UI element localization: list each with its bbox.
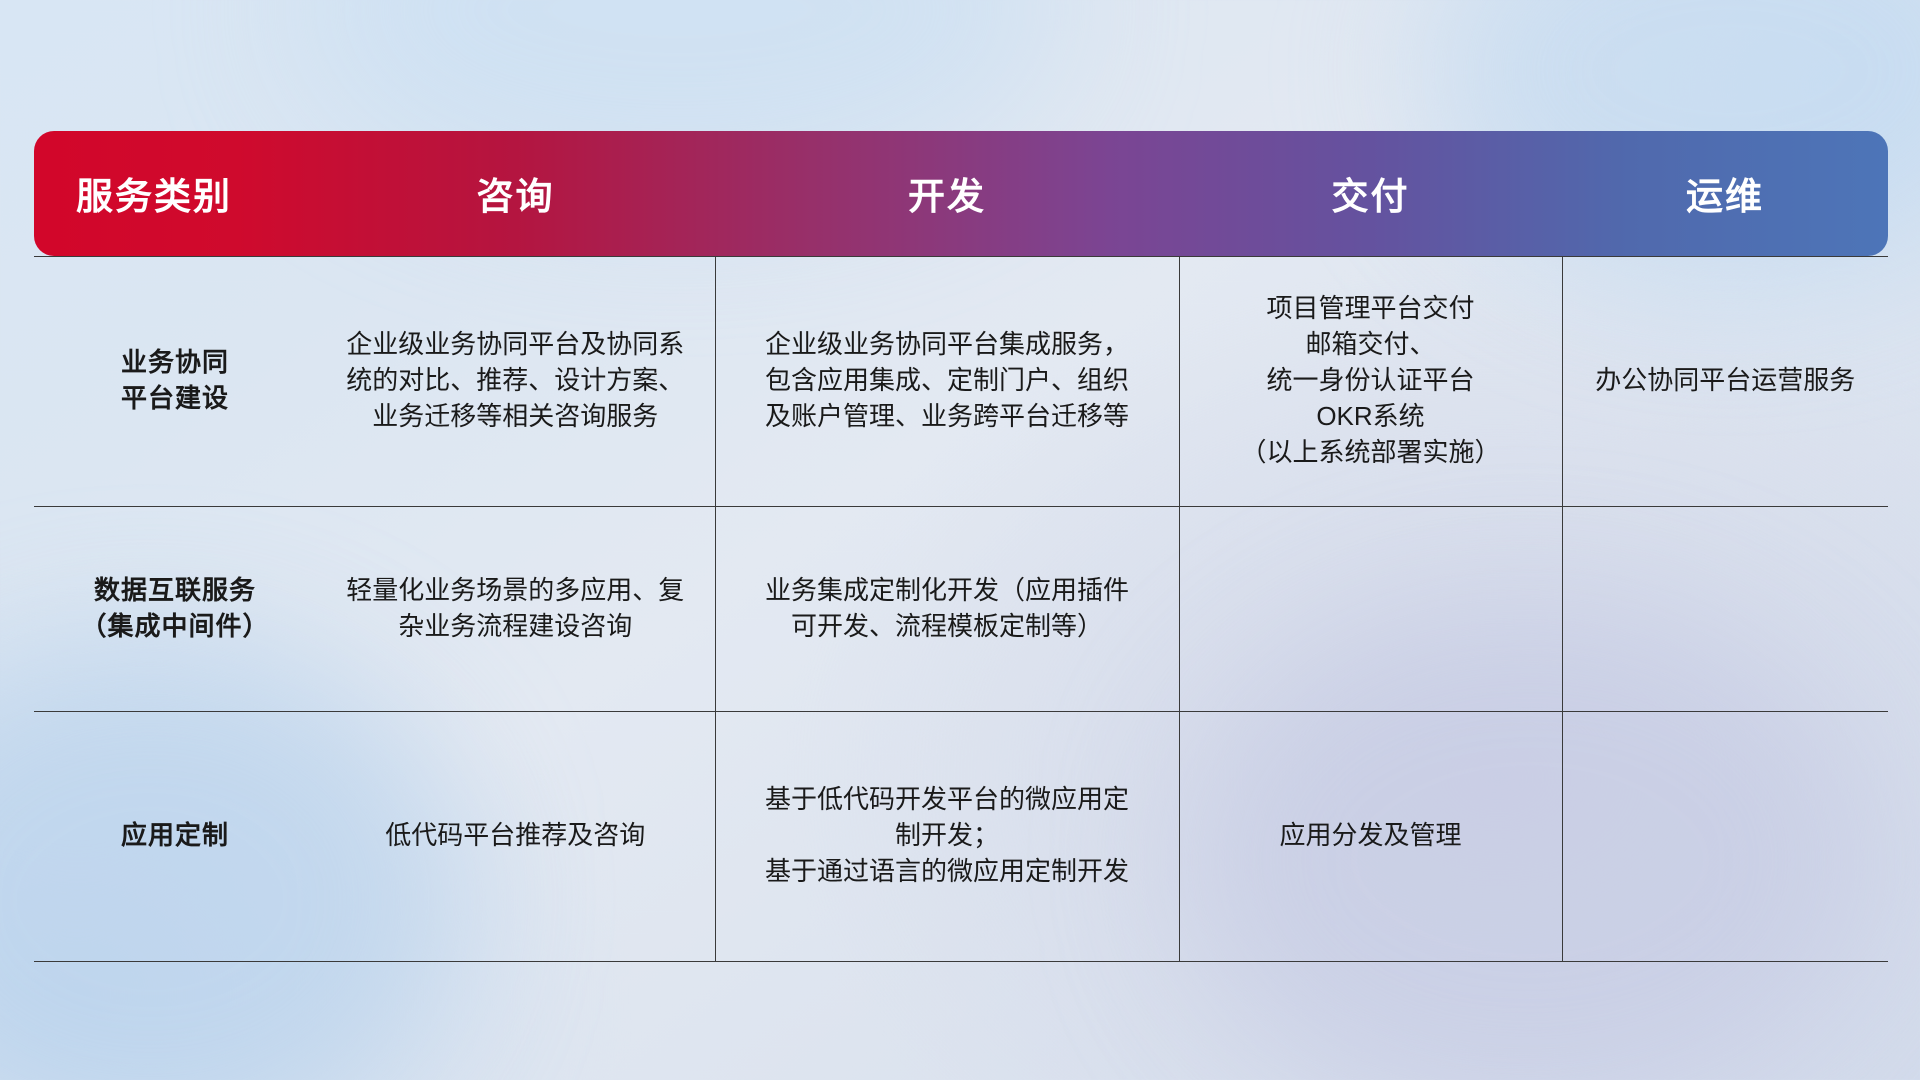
service-matrix-table: 服务类别 咨询 开发 交付 运维 业务协同 平台建设 企业级业务协同平台及协同系…: [34, 131, 1888, 962]
table-row: 业务协同 平台建设 企业级业务协同平台及协同系 统的对比、推荐、设计方案、 业务…: [34, 256, 1888, 506]
cell-row3-consulting: 低代码平台推荐及咨询: [316, 711, 715, 961]
row-label-data-interconnection-service: 数据互联服务 （集成中间件）: [34, 506, 316, 711]
cell-row2-consulting: 轻量化业务场景的多应用、复 杂业务流程建设咨询: [316, 506, 715, 711]
column-header-development: 开发: [715, 131, 1179, 256]
table-row: 应用定制 低代码平台推荐及咨询 基于低代码开发平台的微应用定 制开发； 基于通过…: [34, 711, 1888, 961]
cell-row3-operations: [1562, 711, 1888, 961]
service-matrix-table-wrapper: 服务类别 咨询 开发 交付 运维 业务协同 平台建设 企业级业务协同平台及协同系…: [34, 131, 1888, 963]
table-header: 服务类别 咨询 开发 交付 运维: [34, 131, 1888, 256]
cell-row2-development: 业务集成定制化开发（应用插件 可开发、流程模板定制等）: [715, 506, 1179, 711]
table-body: 业务协同 平台建设 企业级业务协同平台及协同系 统的对比、推荐、设计方案、 业务…: [34, 256, 1888, 961]
table-row: 数据互联服务 （集成中间件） 轻量化业务场景的多应用、复 杂业务流程建设咨询 业…: [34, 506, 1888, 711]
cell-row1-development: 企业级业务协同平台集成服务， 包含应用集成、定制门户、组织 及账户管理、业务跨平…: [715, 256, 1179, 506]
column-header-delivery: 交付: [1179, 131, 1562, 256]
row-label-application-customization: 应用定制: [34, 711, 316, 961]
cell-row1-delivery: 项目管理平台交付 邮箱交付、 统一身份认证平台 OKR系统 （以上系统部署实施）: [1179, 256, 1562, 506]
table-header-row: 服务类别 咨询 开发 交付 运维: [34, 131, 1888, 256]
cell-row2-delivery: [1179, 506, 1562, 711]
cell-row3-delivery: 应用分发及管理: [1179, 711, 1562, 961]
column-header-consulting: 咨询: [316, 131, 715, 256]
cell-row1-consulting: 企业级业务协同平台及协同系 统的对比、推荐、设计方案、 业务迁移等相关咨询服务: [316, 256, 715, 506]
cell-row2-operations: [1562, 506, 1888, 711]
column-header-category: 服务类别: [34, 131, 316, 256]
cell-row1-operations: 办公协同平台运营服务: [1562, 256, 1888, 506]
row-label-business-collaboration-platform: 业务协同 平台建设: [34, 256, 316, 506]
column-header-operations: 运维: [1562, 131, 1888, 256]
cell-row3-development: 基于低代码开发平台的微应用定 制开发； 基于通过语言的微应用定制开发: [715, 711, 1179, 961]
slide-canvas: 服务类别 咨询 开发 交付 运维 业务协同 平台建设 企业级业务协同平台及协同系…: [0, 0, 1920, 1080]
